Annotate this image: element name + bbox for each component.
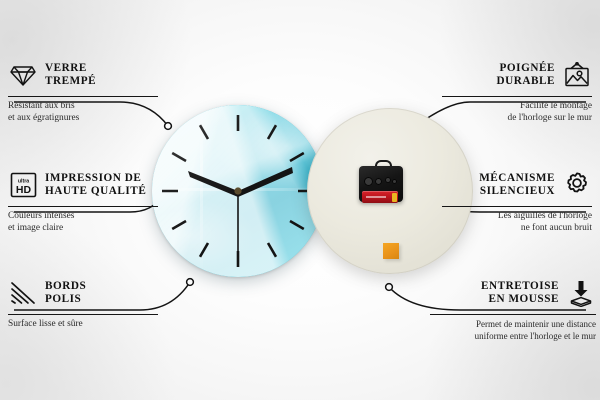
feature-heading: POIGNÉE DURABLE: [442, 58, 592, 92]
feature-title: BORDS POLIS: [45, 280, 86, 307]
foam-spacer-icon: [566, 278, 596, 308]
feature-heading: BORDS POLIS: [8, 276, 158, 310]
clock-face-front: [152, 105, 324, 277]
polished-edges-icon: [8, 278, 38, 308]
clock-mechanism: [359, 160, 403, 202]
feature-impression-haute-qualite: ultra HD IMPRESSION DE HAUTE QUALITÉ Cou…: [8, 168, 158, 234]
feature-description: Facilite le montage de l'horloge sur le …: [442, 101, 592, 124]
feature-heading: VERRE TREMPÉ: [8, 58, 158, 92]
feature-poignee-durable: POIGNÉE DURABLE Facilite le montage de l…: [442, 58, 592, 124]
hanging-frame-icon: [562, 60, 592, 90]
hour-hand: [188, 171, 238, 197]
feature-heading: MÉCANISME SILENCIEUX: [442, 168, 592, 202]
feature-divider: [8, 314, 158, 315]
feature-description: Couleurs intenses et image claire: [8, 211, 158, 234]
svg-text:HD: HD: [15, 184, 31, 196]
hands-center-cap: [234, 187, 241, 194]
feature-title: VERRE TREMPÉ: [45, 62, 96, 89]
connector-dot-entretoise: [386, 284, 393, 291]
mechanism-dials: [364, 177, 398, 189]
feature-divider: [8, 206, 158, 207]
feature-heading: ENTRETOISE EN MOUSSE: [430, 276, 596, 310]
feature-title: POIGNÉE DURABLE: [496, 62, 555, 89]
feature-divider: [430, 314, 596, 315]
feature-title: ENTRETOISE EN MOUSSE: [481, 280, 559, 307]
feature-entretoise-en-mousse: ENTRETOISE EN MOUSSE Permet de maintenir…: [430, 276, 596, 342]
feature-description: Résistant aux bris et aux égratignures: [8, 101, 158, 124]
feature-divider: [442, 206, 592, 207]
feature-mecanisme-silencieux: MÉCANISME SILENCIEUX Les aiguilles de l'…: [442, 168, 592, 234]
feature-verre-trempe: VERRE TREMPÉ Résistant aux bris et aux é…: [8, 58, 158, 124]
gear-icon: [562, 170, 592, 200]
connector-dot-bords-polis: [187, 279, 194, 286]
foam-spacer-pad: [383, 243, 399, 259]
feature-bords-polis: BORDS POLIS Surface lisse et sûre: [8, 276, 158, 331]
feature-heading: ultra HD IMPRESSION DE HAUTE QUALITÉ: [8, 168, 158, 202]
infographic-canvas: VERRE TREMPÉ Résistant aux bris et aux é…: [0, 0, 600, 400]
feature-description: Permet de maintenir une distance uniform…: [430, 319, 596, 342]
feature-title: MÉCANISME SILENCIEUX: [479, 172, 555, 199]
feature-divider: [8, 96, 158, 97]
ultra-hd-icon: ultra HD: [8, 170, 38, 200]
battery: [362, 191, 398, 203]
feature-divider: [442, 96, 592, 97]
feature-title: IMPRESSION DE HAUTE QUALITÉ: [45, 172, 146, 199]
mechanism-body: [359, 166, 403, 202]
feature-description: Les aiguilles de l'horloge ne font aucun…: [442, 211, 592, 234]
minute-hand: [238, 167, 293, 197]
clock-hands: [152, 105, 324, 277]
feature-description: Surface lisse et sûre: [8, 319, 158, 331]
diamond-icon: [8, 60, 38, 90]
